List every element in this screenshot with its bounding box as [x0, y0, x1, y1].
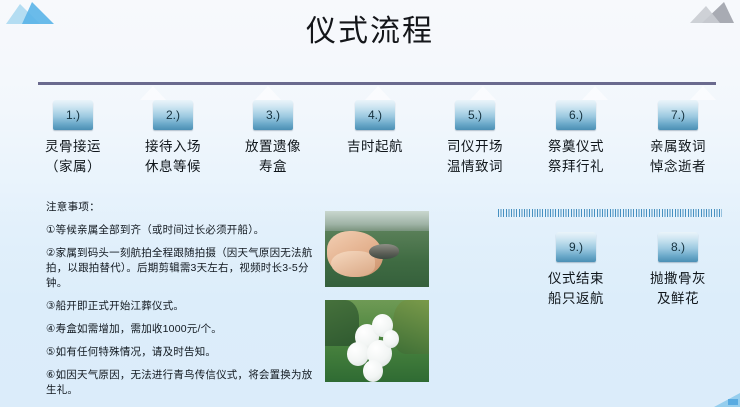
step-3-badge: 3.)	[253, 100, 293, 130]
step-8-line1: 抛撒骨灰	[630, 269, 726, 289]
step-5-line2: 温情致词	[427, 157, 523, 177]
white-balloons-photo	[325, 300, 429, 382]
step-7-line1: 亲属致词	[630, 137, 726, 157]
hatched-connector-bar	[498, 209, 722, 217]
step-3-line2: 寿盒	[225, 157, 321, 177]
note-item: ④寿盒如需增加，需加收1000元/个。	[46, 322, 314, 337]
step-4-badge: 4.)	[355, 100, 395, 130]
step-8-line2: 及鲜花	[630, 289, 726, 309]
step-2-badge: 2.)	[153, 100, 193, 130]
step-1-line1: 灵骨接运	[25, 137, 121, 157]
step-9-label: 仪式结束 船只返航	[528, 269, 624, 309]
step-9[interactable]: 9.) 仪式结束 船只返航	[528, 232, 624, 309]
note-item: ⑤如有任何特殊情况，请及时告知。	[46, 345, 314, 360]
step-5[interactable]: 5.) 司仪开场 温情致词	[427, 100, 523, 177]
note-item: ①等候亲属全部到齐（或时间过长必须开船）。	[46, 223, 314, 238]
note-item: ⑥如因天气原因，无法进行青鸟传信仪式，将会置换为放生礼。	[46, 368, 314, 398]
bottom-right-marker	[728, 399, 738, 405]
fish-release-photo	[325, 211, 429, 287]
step-2-line2: 休息等候	[125, 157, 221, 177]
step-2-label: 接待入场 休息等候	[125, 137, 221, 177]
title-divider	[38, 82, 716, 85]
watermark-chevron-icon	[140, 86, 166, 100]
watermark-chevron-icon	[365, 86, 391, 100]
step-1-line2: （家属）	[25, 157, 121, 177]
note-item: ②家属到码头一刻航拍全程跟随拍摄（因天气原因无法航拍，以跟拍替代）。后期剪辑需3…	[46, 246, 314, 291]
step-1-label: 灵骨接运 （家属）	[25, 137, 121, 177]
step-3[interactable]: 3.) 放置遗像 寿盒	[225, 100, 321, 177]
step-7-badge: 7.)	[658, 100, 698, 130]
watermark-chevron-icon	[255, 86, 281, 100]
step-5-line1: 司仪开场	[427, 137, 523, 157]
watermark-chevron-icon	[690, 86, 716, 100]
notes-title: 注意事项：	[46, 200, 314, 215]
step-6-label: 祭奠仪式 祭拜行礼	[528, 137, 624, 177]
step-7-line2: 悼念逝者	[630, 157, 726, 177]
step-8-label: 抛撒骨灰 及鲜花	[630, 269, 726, 309]
note-item: ③船开即正式开始江葬仪式。	[46, 299, 314, 314]
balloon	[383, 330, 399, 348]
step-3-line1: 放置遗像	[225, 137, 321, 157]
water-surface	[325, 211, 429, 233]
step-6[interactable]: 6.) 祭奠仪式 祭拜行礼	[528, 100, 624, 177]
step-9-line1: 仪式结束	[528, 269, 624, 289]
page-title: 仪式流程	[0, 13, 740, 51]
step-4-line1: 吉时起航	[327, 137, 423, 157]
tree-left	[325, 300, 359, 346]
step-9-line2: 船只返航	[528, 289, 624, 309]
fish-shape	[369, 244, 399, 259]
step-6-line1: 祭奠仪式	[528, 137, 624, 157]
step-2-line1: 接待入场	[125, 137, 221, 157]
step-7[interactable]: 7.) 亲属致词 悼念逝者	[630, 100, 726, 177]
slide-canvas: 仪式流程 1.) 灵骨接运 （家属） 2.) 接待入场 休息等候 3.) 放置遗…	[0, 0, 740, 407]
step-3-label: 放置遗像 寿盒	[225, 137, 321, 177]
step-1[interactable]: 1.) 灵骨接运 （家属）	[25, 100, 121, 177]
notes-panel: 注意事项： ①等候亲属全部到齐（或时间过长必须开船）。 ②家属到码头一刻航拍全程…	[46, 200, 314, 406]
step-5-badge: 5.)	[455, 100, 495, 130]
step-8[interactable]: 8.) 抛撒骨灰 及鲜花	[630, 232, 726, 309]
tree-right	[393, 300, 429, 354]
step-7-label: 亲属致词 悼念逝者	[630, 137, 726, 177]
hand-palm-shape	[331, 251, 375, 277]
step-8-badge: 8.)	[658, 232, 698, 262]
watermark-chevron-icon	[470, 86, 496, 100]
step-6-line2: 祭拜行礼	[528, 157, 624, 177]
step-2[interactable]: 2.) 接待入场 休息等候	[125, 100, 221, 177]
balloon	[363, 360, 383, 382]
watermark-chevron-icon	[582, 86, 608, 100]
step-4[interactable]: 4.) 吉时起航	[327, 100, 423, 157]
step-5-label: 司仪开场 温情致词	[427, 137, 523, 177]
step-9-badge: 9.)	[556, 232, 596, 262]
step-6-badge: 6.)	[556, 100, 596, 130]
step-4-label: 吉时起航	[327, 137, 423, 157]
step-1-badge: 1.)	[53, 100, 93, 130]
